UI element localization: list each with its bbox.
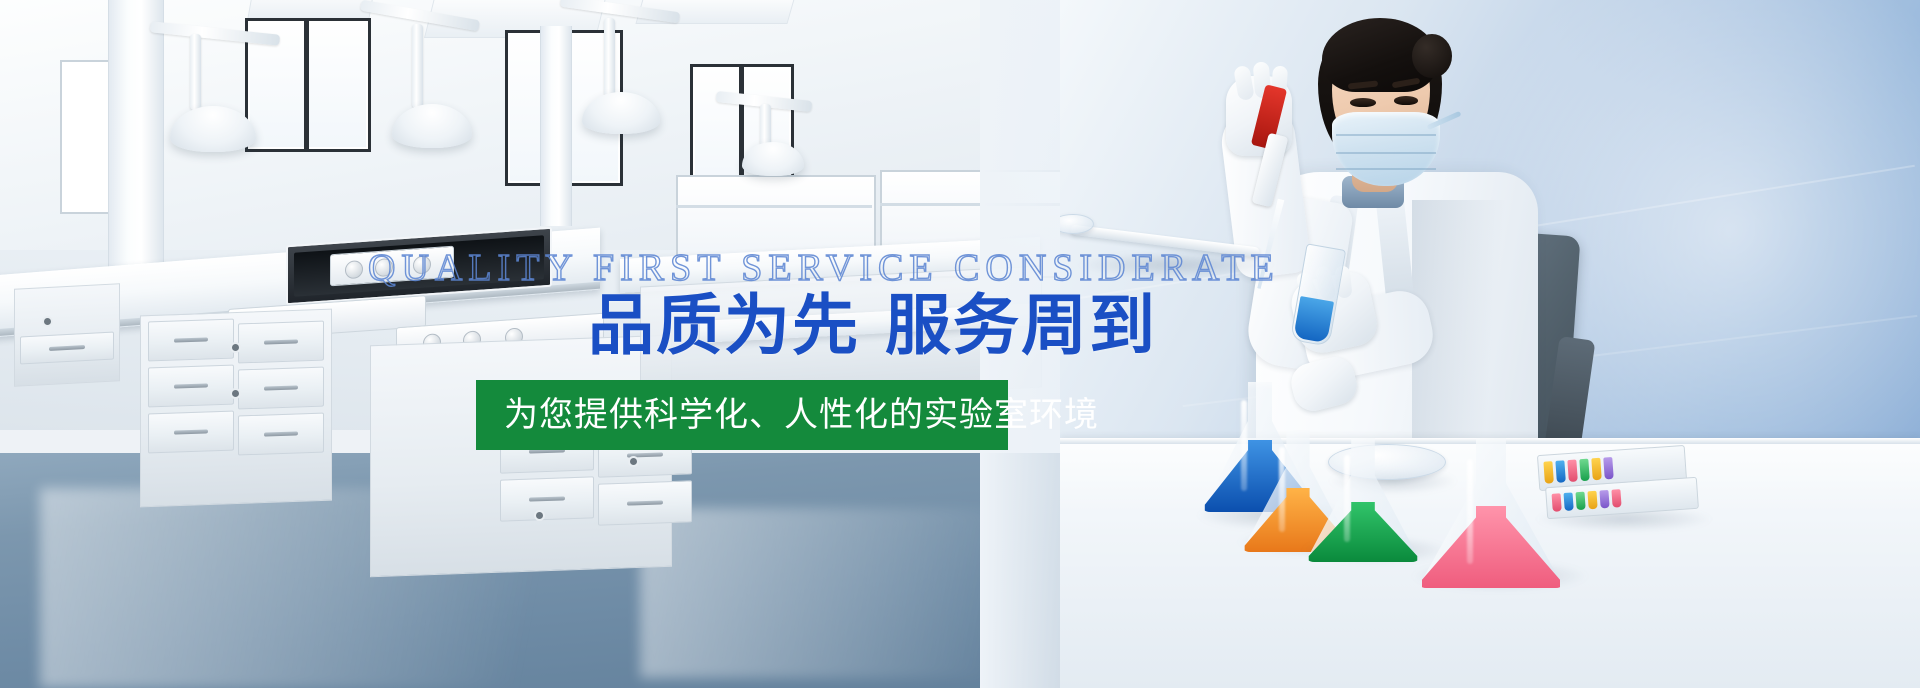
banner-text-overlay: QUALITY FIRST SERVICE CONSIDERATE 品质为先 服… xyxy=(0,0,1920,688)
lab-hero-banner: QUALITY FIRST SERVICE CONSIDERATE 品质为先 服… xyxy=(0,0,1920,688)
english-tagline: QUALITY FIRST SERVICE CONSIDERATE xyxy=(368,248,1280,288)
subtitle-text: 为您提供科学化、人性化的实验室环境 xyxy=(476,395,1099,435)
banner-headline: 品质为先 服务周到 xyxy=(588,290,1157,362)
subtitle-band: 为您提供科学化、人性化的实验室环境 xyxy=(476,380,1008,450)
